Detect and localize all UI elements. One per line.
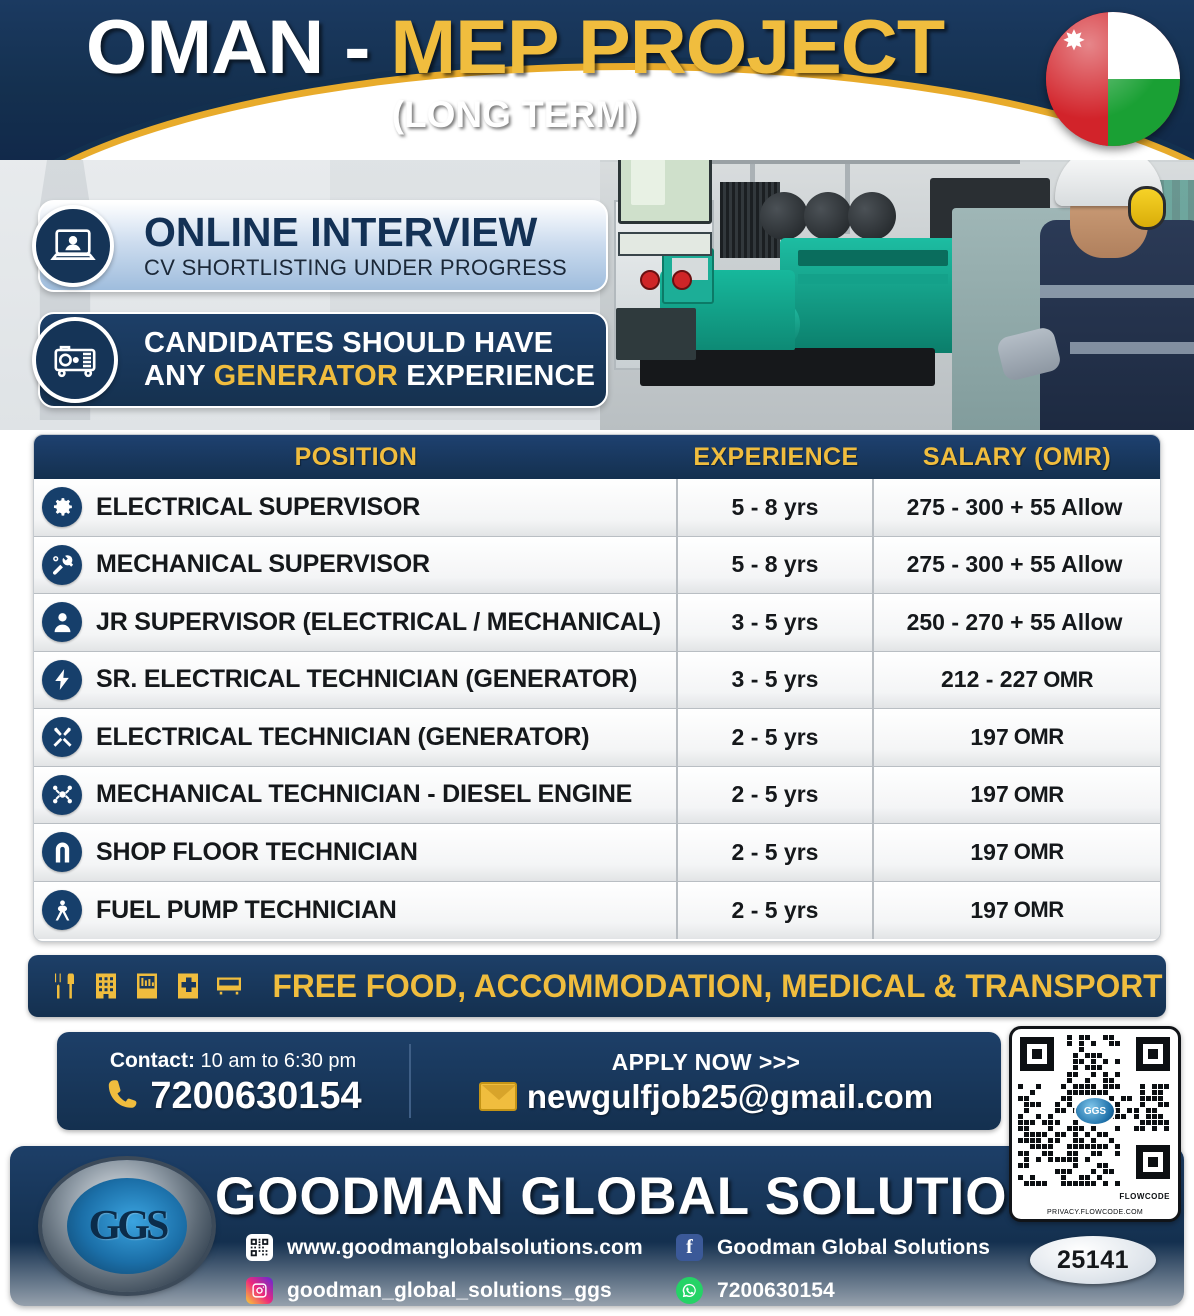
cell-position: SHOP FLOOR TECHNICIAN — [34, 824, 678, 881]
cutlery-icon — [50, 969, 80, 1003]
cell-salary: 275 - 300 + 55 Allow — [874, 479, 1160, 536]
contact-phone-number[interactable]: 7200630154 — [150, 1075, 361, 1118]
qr-finder-bottom-right — [1136, 1145, 1170, 1179]
jobs-table: POSITION EXPERIENCE SALARY (OMR) ELECTRI… — [33, 434, 1161, 942]
footer-links: www.goodmanglobalsolutions.com f Goodman… — [246, 1234, 1146, 1304]
contact-phone-block: Contact: 10 am to 6:30 pm 7200630154 — [57, 1045, 409, 1118]
cell-position: SR. ELECTRICAL TECHNICIAN (GENERATOR) — [34, 652, 678, 709]
table-row: SHOP FLOOR TECHNICIAN2 - 5 yrs197OMR — [34, 824, 1160, 882]
person-icon — [42, 602, 82, 642]
header-title-block: OMAN - MEP PROJECT (LONG TERM) — [0, 10, 1030, 136]
generator-icon — [32, 317, 118, 403]
cell-salary: 275 - 300 + 55 Allow — [874, 537, 1160, 594]
qr-finder-top-right — [1136, 1037, 1170, 1071]
salary-value: 197 — [970, 724, 1008, 751]
cell-salary: 197OMR — [874, 824, 1160, 881]
whatsapp-icon — [676, 1277, 703, 1304]
link-instagram[interactable]: goodman_global_solutions_ggs — [246, 1277, 676, 1304]
bus-icon — [214, 969, 244, 1003]
qr-code[interactable]: GGS FLOWCODE PRIVACY.FLOWCODE.COM — [1009, 1026, 1181, 1222]
cell-position: JR SUPERVISOR (ELECTRICAL / MECHANICAL) — [34, 594, 678, 651]
company-logo-text: GGS — [67, 1178, 187, 1274]
fuel-pump-icon — [42, 890, 82, 930]
cell-position: FUEL PUMP TECHNICIAN — [34, 882, 678, 940]
benefits-text: FREE FOOD, ACCOMMODATION, MEDICAL & TRAN… — [272, 968, 1162, 1005]
poster-header: OMAN - MEP PROJECT (LONG TERM) — [0, 0, 1194, 160]
company-name: GOODMAN GLOBAL SOLUTIONS — [215, 1166, 1015, 1227]
footer-bar: GGS GOODMAN GLOBAL SOLUTIONS www.goodman… — [10, 1146, 1184, 1306]
cell-experience: 3 - 5 yrs — [678, 652, 874, 709]
instagram-text: goodman_global_solutions_ggs — [287, 1279, 612, 1303]
envelope-icon — [479, 1082, 517, 1111]
magnet-icon — [42, 832, 82, 872]
column-header-salary: SALARY (OMR) — [874, 443, 1160, 472]
facebook-text: Goodman Global Solutions — [717, 1236, 990, 1260]
cell-experience: 5 - 8 yrs — [678, 479, 874, 536]
page-subtitle: (LONG TERM) — [0, 94, 1030, 136]
position-label: SR. ELECTRICAL TECHNICIAN (GENERATOR) — [96, 665, 637, 694]
salary-value: 212 - 227 — [941, 666, 1038, 693]
cv-shortlisting-subtitle: CV SHORTLISTING UNDER PROGRESS — [144, 255, 567, 281]
medical-cross-icon — [173, 969, 203, 1003]
table-row: SR. ELECTRICAL TECHNICIAN (GENERATOR)3 -… — [34, 652, 1160, 710]
table-row: ELECTRICAL TECHNICIAN (GENERATOR)2 - 5 y… — [34, 709, 1160, 767]
cell-salary: 197OMR — [874, 709, 1160, 766]
title-dash: - — [323, 5, 390, 90]
table-body: ELECTRICAL SUPERVISOR5 - 8 yrs275 - 300 … — [34, 479, 1160, 939]
phone-icon — [104, 1076, 140, 1117]
cell-position: MECHANICAL TECHNICIAN - DIESEL ENGINE — [34, 767, 678, 824]
generator-workshop-photo — [600, 120, 1194, 430]
company-logo: GGS — [42, 1160, 212, 1292]
apply-now-label: APPLY NOW >>> — [411, 1049, 1001, 1076]
facebook-icon: f — [676, 1234, 703, 1261]
crossed-tools-icon — [42, 717, 82, 757]
cell-experience: 2 - 5 yrs — [678, 709, 874, 766]
cell-position: MECHANICAL SUPERVISOR — [34, 537, 678, 594]
cell-position: ELECTRICAL TECHNICIAN (GENERATOR) — [34, 709, 678, 766]
cell-experience: 2 - 5 yrs — [678, 824, 874, 881]
cell-salary: 212 - 227OMR — [874, 652, 1160, 709]
position-label: MECHANICAL SUPERVISOR — [96, 550, 430, 579]
contact-label: Contact: — [110, 1049, 195, 1072]
salary-value: 197 — [970, 781, 1008, 808]
table-row: ELECTRICAL SUPERVISOR5 - 8 yrs275 - 300 … — [34, 479, 1160, 537]
contact-email[interactable]: newgulfjob25@gmail.com — [527, 1078, 933, 1116]
bed-icon — [132, 969, 162, 1003]
online-interview-banner: ONLINE INTERVIEW CV SHORTLISTING UNDER P… — [38, 200, 608, 292]
cell-salary: 250 - 270 + 55 Allow — [874, 594, 1160, 651]
website-text: www.goodmanglobalsolutions.com — [287, 1236, 643, 1260]
online-interview-title: ONLINE INTERVIEW — [144, 212, 567, 253]
link-website[interactable]: www.goodmanglobalsolutions.com — [246, 1234, 676, 1261]
column-header-position: POSITION — [34, 443, 678, 472]
position-label: FUEL PUMP TECHNICIAN — [96, 896, 397, 925]
benefits-bar: FREE FOOD, ACCOMMODATION, MEDICAL & TRAN… — [28, 955, 1166, 1017]
generator-experience-banner: CANDIDATES SHOULD HAVE ANY GENERATOR EXP… — [38, 312, 608, 408]
table-header-row: POSITION EXPERIENCE SALARY (OMR) — [34, 435, 1160, 479]
building-icon — [91, 969, 121, 1003]
position-label: JR SUPERVISOR (ELECTRICAL / MECHANICAL) — [96, 608, 661, 637]
position-label: ELECTRICAL SUPERVISOR — [96, 493, 420, 522]
recruitment-poster: OMAN - MEP PROJECT (LONG TERM) ✸ ONLINE … — [0, 0, 1194, 1316]
salary-value: 197 — [970, 897, 1008, 924]
gear-icon — [42, 487, 82, 527]
title-part-country: OMAN — [86, 5, 323, 90]
video-interview-icon — [32, 205, 114, 287]
contact-bar: Contact: 10 am to 6:30 pm 7200630154 APP… — [57, 1032, 1001, 1130]
position-label: SHOP FLOOR TECHNICIAN — [96, 838, 418, 867]
any-text: ANY — [144, 360, 214, 392]
table-row: MECHANICAL TECHNICIAN - DIESEL ENGINE2 -… — [34, 767, 1160, 825]
cell-experience: 5 - 8 yrs — [678, 537, 874, 594]
wrench-icon — [42, 545, 82, 585]
position-label: MECHANICAL TECHNICIAN - DIESEL ENGINE — [96, 780, 632, 809]
salary-unit: OMR — [1014, 839, 1064, 865]
position-label: ELECTRICAL TECHNICIAN (GENERATOR) — [96, 723, 589, 752]
bolt-icon — [42, 660, 82, 700]
table-row: FUEL PUMP TECHNICIAN2 - 5 yrs197OMR — [34, 882, 1160, 940]
cell-salary: 197OMR — [874, 767, 1160, 824]
salary-value: 250 - 270 + 55 Allow — [907, 609, 1123, 636]
qr-finder-top-left — [1020, 1037, 1054, 1071]
cell-salary: 197OMR — [874, 882, 1160, 940]
oman-flag-icon: ✸ — [1046, 12, 1180, 146]
title-part-project: MEP PROJECT — [390, 5, 944, 90]
column-header-experience: EXPERIENCE — [678, 443, 874, 472]
cell-experience: 2 - 5 yrs — [678, 882, 874, 940]
candidates-line2: ANY GENERATOR EXPERIENCE — [144, 360, 595, 393]
qr-url-label: PRIVACY.FLOWCODE.COM — [1012, 1209, 1178, 1216]
engine-piston-icon — [42, 775, 82, 815]
page-title: OMAN - MEP PROJECT — [0, 10, 1051, 86]
reference-badge: 25141 — [1030, 1236, 1156, 1284]
cell-experience: 3 - 5 yrs — [678, 594, 874, 651]
cell-position: ELECTRICAL SUPERVISOR — [34, 479, 678, 536]
contact-hours: 10 am to 6:30 pm — [195, 1050, 356, 1072]
salary-value: 197 — [970, 839, 1008, 866]
candidates-line1: CANDIDATES SHOULD HAVE — [144, 327, 595, 360]
salary-unit: OMR — [1043, 667, 1093, 693]
contact-hours-label: Contact: 10 am to 6:30 pm — [57, 1049, 409, 1073]
experience-text: EXPERIENCE — [398, 360, 595, 392]
instagram-icon — [246, 1277, 273, 1304]
benefits-icon-group — [50, 969, 244, 1003]
table-row: MECHANICAL SUPERVISOR5 - 8 yrs275 - 300 … — [34, 537, 1160, 595]
whatsapp-text: 7200630154 — [717, 1279, 835, 1303]
table-row: JR SUPERVISOR (ELECTRICAL / MECHANICAL)3… — [34, 594, 1160, 652]
salary-value: 275 - 300 + 55 Allow — [907, 494, 1123, 521]
salary-unit: OMR — [1014, 897, 1064, 923]
salary-unit: OMR — [1014, 782, 1064, 808]
cell-experience: 2 - 5 yrs — [678, 767, 874, 824]
salary-unit: OMR — [1014, 724, 1064, 750]
salary-value: 275 - 300 + 55 Allow — [907, 551, 1123, 578]
qr-brand-label: FLOWCODE — [1119, 1192, 1170, 1201]
apply-email-block: APPLY NOW >>> newgulfjob25@gmail.com — [411, 1047, 1001, 1116]
qr-center-logo: GGS — [1076, 1098, 1114, 1124]
generator-highlight: GENERATOR — [214, 360, 398, 392]
web-icon — [246, 1234, 273, 1261]
